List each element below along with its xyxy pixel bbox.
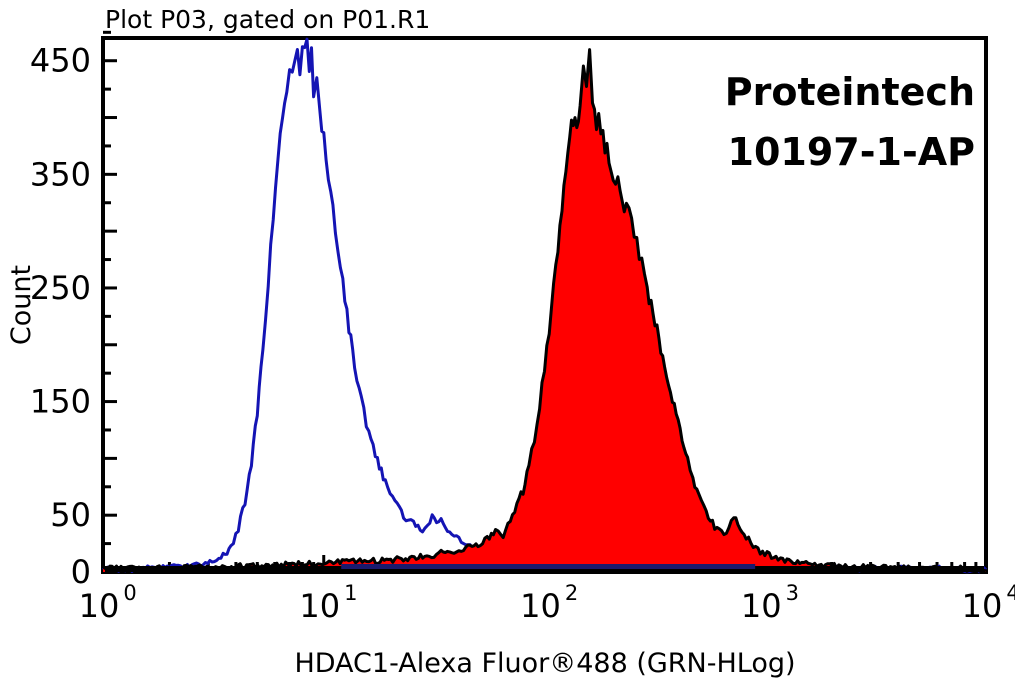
y-tick-label: 50 [50, 496, 91, 534]
plot-canvas: 050150250350450 100101102103104 Plot P03… [0, 0, 1015, 685]
x-tick-exponent: 1 [344, 581, 357, 605]
plot-title: Plot P03, gated on P01.R1 [105, 5, 430, 34]
y-tick-label: 0 [71, 553, 91, 591]
flow-cytometry-histogram-figure: 050150250350450 100101102103104 Plot P03… [0, 0, 1015, 685]
y-tick-label: 450 [30, 42, 91, 80]
y-axis-label: Count [6, 265, 37, 345]
x-axis-label: HDAC1-Alexa Fluor®488 (GRN-HLog) [294, 648, 795, 679]
x-tick-exponent: 2 [565, 581, 578, 605]
x-tick-exponent: 4 [1006, 581, 1015, 605]
y-tick-label: 350 [30, 155, 91, 193]
x-tick-mantissa: 10 [962, 587, 1003, 625]
x-tick-mantissa: 10 [741, 587, 782, 625]
x-tick-mantissa: 10 [520, 587, 561, 625]
x-tick-mantissa: 10 [299, 587, 340, 625]
y-tick-label: 150 [30, 383, 91, 421]
x-tick-exponent: 3 [786, 581, 799, 605]
x-tick-mantissa: 10 [79, 587, 120, 625]
x-tick-exponent: 0 [123, 581, 136, 605]
y-tick-label: 250 [30, 269, 91, 307]
brand-company-label: Proteintech [725, 70, 975, 114]
brand-catalog-label: 10197-1-AP [728, 130, 975, 174]
